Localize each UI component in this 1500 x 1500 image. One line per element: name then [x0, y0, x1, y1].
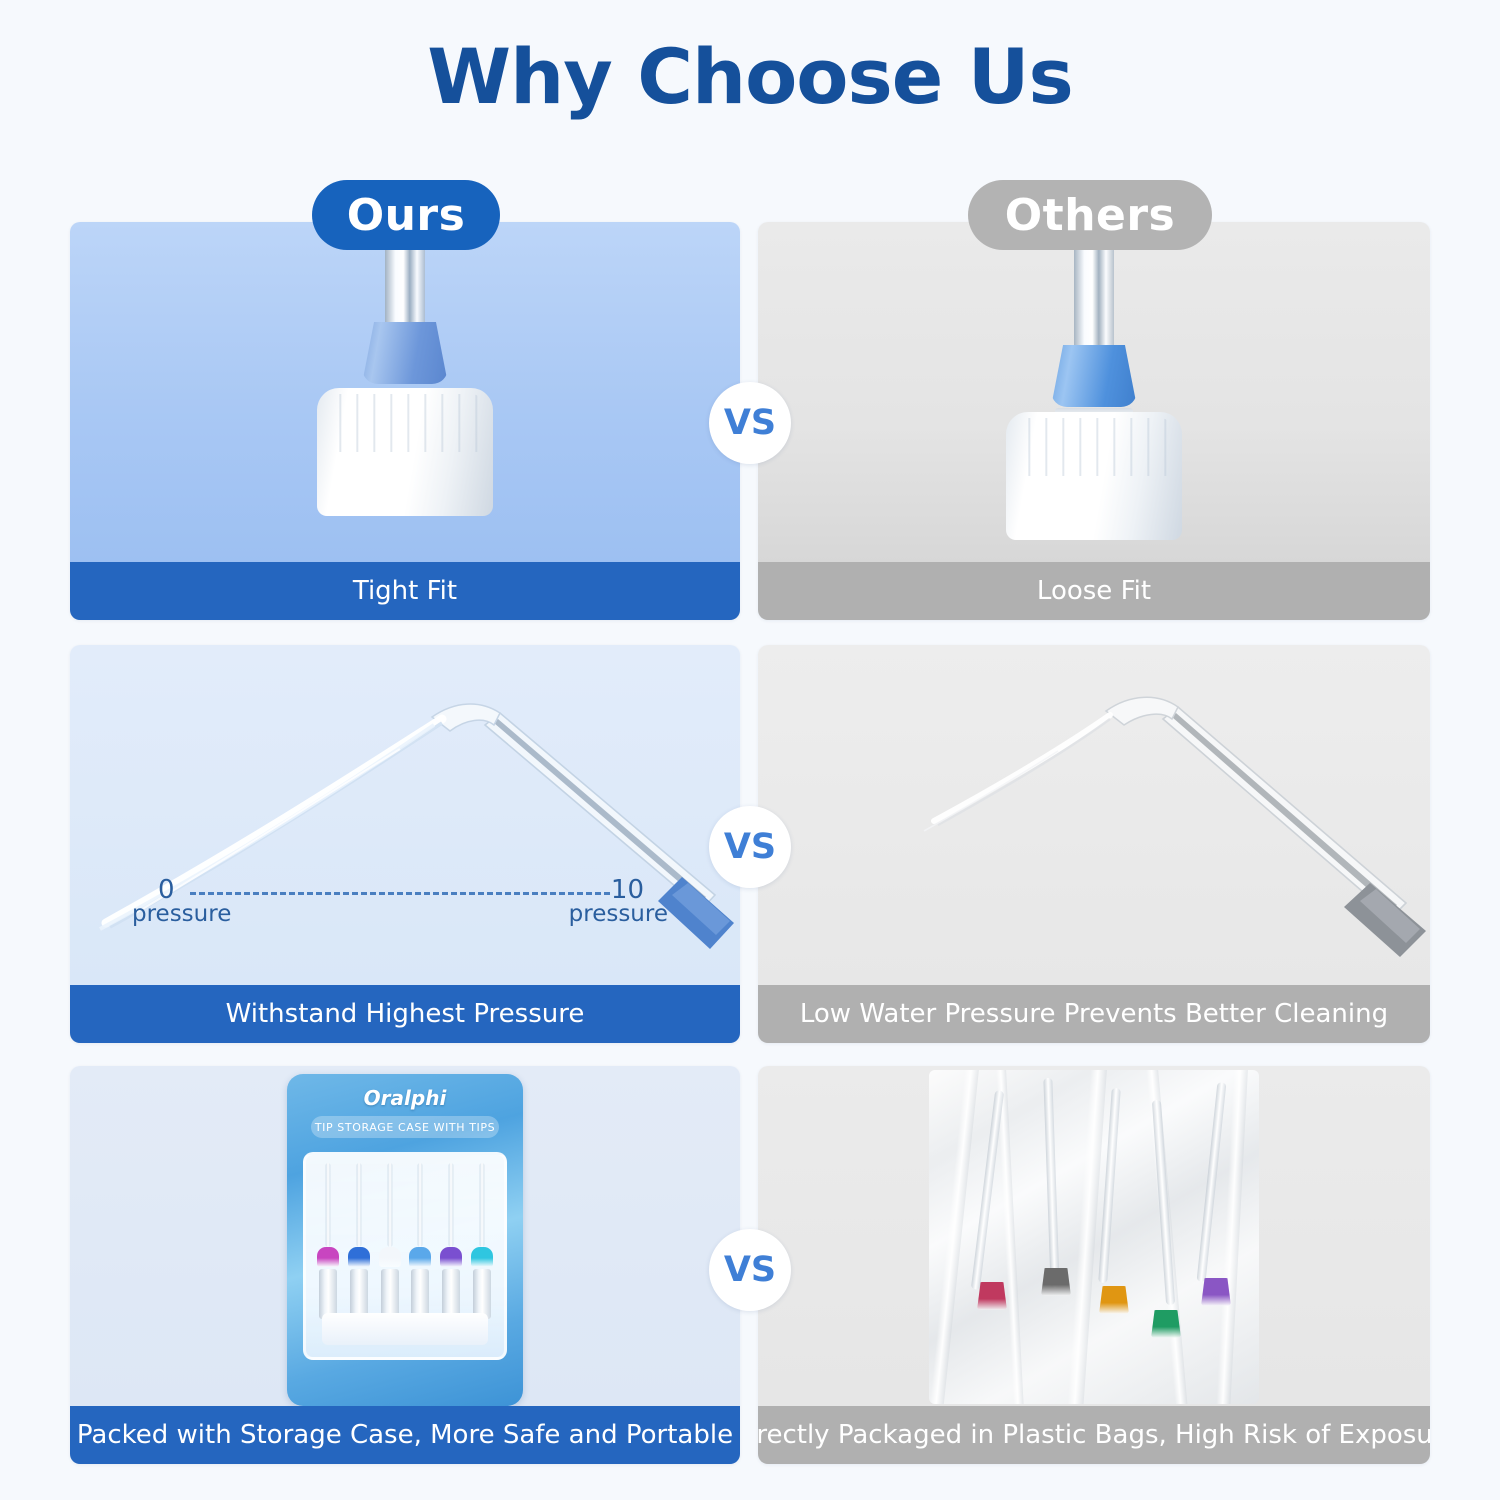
tip-needle-icon	[479, 1163, 484, 1247]
card-ours-pressure: 0 10 pressure pressure Withstand Highest…	[70, 645, 740, 1043]
plastic-bag	[929, 1070, 1259, 1404]
flosser-handle-icon	[1006, 412, 1182, 540]
tip-cap-icon	[1041, 1268, 1071, 1296]
image-ours-high-pressure: 0 10 pressure pressure	[70, 645, 740, 985]
water-jet-illustration	[758, 645, 1430, 985]
tip-needle-icon	[387, 1163, 392, 1247]
blister-package: Oralphi TIP STORAGE CASE WITH TIPS	[287, 1074, 523, 1406]
image-ours-tight-fit	[70, 222, 740, 562]
tip-cap-icon	[1151, 1310, 1181, 1338]
tip-body-icon	[442, 1269, 460, 1319]
tip-cap-icon	[317, 1247, 339, 1267]
nozzle-collar-icon	[1051, 345, 1137, 407]
caption-others-packaging: Directly Packaged in Plastic Bags, High …	[758, 1406, 1430, 1464]
water-stream-icon	[70, 645, 740, 985]
tip-cap-icon	[409, 1247, 431, 1267]
pressure-dashed-line	[190, 892, 610, 895]
tip-needle-icon	[356, 1163, 361, 1247]
package-strip-text: TIP STORAGE CASE WITH TIPS	[311, 1116, 499, 1138]
flosser-handle-icon	[317, 388, 493, 516]
caption-ours-pressure: Withstand Highest Pressure	[70, 985, 740, 1043]
caption-ours-packaging: Packed with Storage Case, More Safe and …	[70, 1406, 740, 1464]
caption-others-fit: Loose Fit	[758, 562, 1430, 620]
tip-cap-icon	[440, 1247, 462, 1267]
caption-others-pressure: Low Water Pressure Prevents Better Clean…	[758, 985, 1430, 1043]
tip-item	[470, 1163, 494, 1319]
tip-item	[439, 1163, 463, 1319]
water-jet-illustration	[70, 645, 740, 985]
tip-body-icon	[319, 1269, 337, 1319]
storage-case-base	[322, 1313, 488, 1345]
tip-cap-icon	[1201, 1278, 1231, 1306]
package-tray	[303, 1152, 507, 1360]
card-ours-fit: Tight Fit	[70, 222, 740, 620]
nozzle-collar-icon	[362, 322, 448, 384]
tip-body-icon	[411, 1269, 429, 1319]
tip-cap-icon	[1099, 1286, 1129, 1314]
tip-item	[347, 1163, 371, 1319]
tip-rod-icon	[971, 1090, 1004, 1290]
caption-ours-fit: Tight Fit	[70, 562, 740, 620]
card-others-fit: Loose Fit	[758, 222, 1430, 620]
pressure-max-label: pressure	[569, 901, 668, 927]
image-others-plastic-bag	[758, 1066, 1430, 1406]
tip-item	[378, 1163, 402, 1319]
tip-needle-icon	[326, 1163, 331, 1247]
vs-badge: VS	[709, 806, 791, 888]
image-ours-storage-case: Oralphi TIP STORAGE CASE WITH TIPS	[70, 1066, 740, 1406]
image-others-low-pressure	[758, 645, 1430, 985]
tip-item	[408, 1163, 432, 1319]
package-brand: Oralphi	[287, 1086, 523, 1110]
tip-body-icon	[350, 1269, 368, 1319]
tip-cap-icon	[977, 1282, 1007, 1310]
image-others-loose-fit	[758, 222, 1430, 562]
tip-cap-icon	[471, 1247, 493, 1267]
why-choose-us-infographic: Why Choose Us Ours Others Tight Fit Loos…	[0, 0, 1500, 1500]
pressure-min-label: pressure	[132, 901, 231, 927]
tip-item	[316, 1163, 340, 1319]
water-stream-icon	[758, 645, 1430, 985]
badge-ours: Ours	[312, 180, 500, 250]
vs-badge: VS	[709, 1229, 791, 1311]
page-title: Why Choose Us	[0, 32, 1500, 121]
tip-body-icon	[473, 1269, 491, 1319]
tip-needle-icon	[418, 1163, 423, 1247]
card-others-pressure: Low Water Pressure Prevents Better Clean…	[758, 645, 1430, 1043]
card-ours-packaging: Oralphi TIP STORAGE CASE WITH TIPS	[70, 1066, 740, 1464]
tip-needle-icon	[449, 1163, 454, 1247]
tip-rod-icon	[1197, 1082, 1227, 1282]
tip-cap-icon	[348, 1247, 370, 1267]
badge-others: Others	[968, 180, 1212, 250]
tip-row	[316, 1163, 494, 1319]
vs-badge: VS	[709, 382, 791, 464]
pressure-scale: 0 10 pressure pressure	[132, 875, 668, 929]
bag-wrinkle	[929, 1070, 980, 1404]
tip-rod-icon	[1043, 1078, 1059, 1288]
card-others-packaging: Directly Packaged in Plastic Bags, High …	[758, 1066, 1430, 1464]
tip-body-icon	[381, 1269, 399, 1319]
tip-cap-icon	[379, 1247, 401, 1267]
